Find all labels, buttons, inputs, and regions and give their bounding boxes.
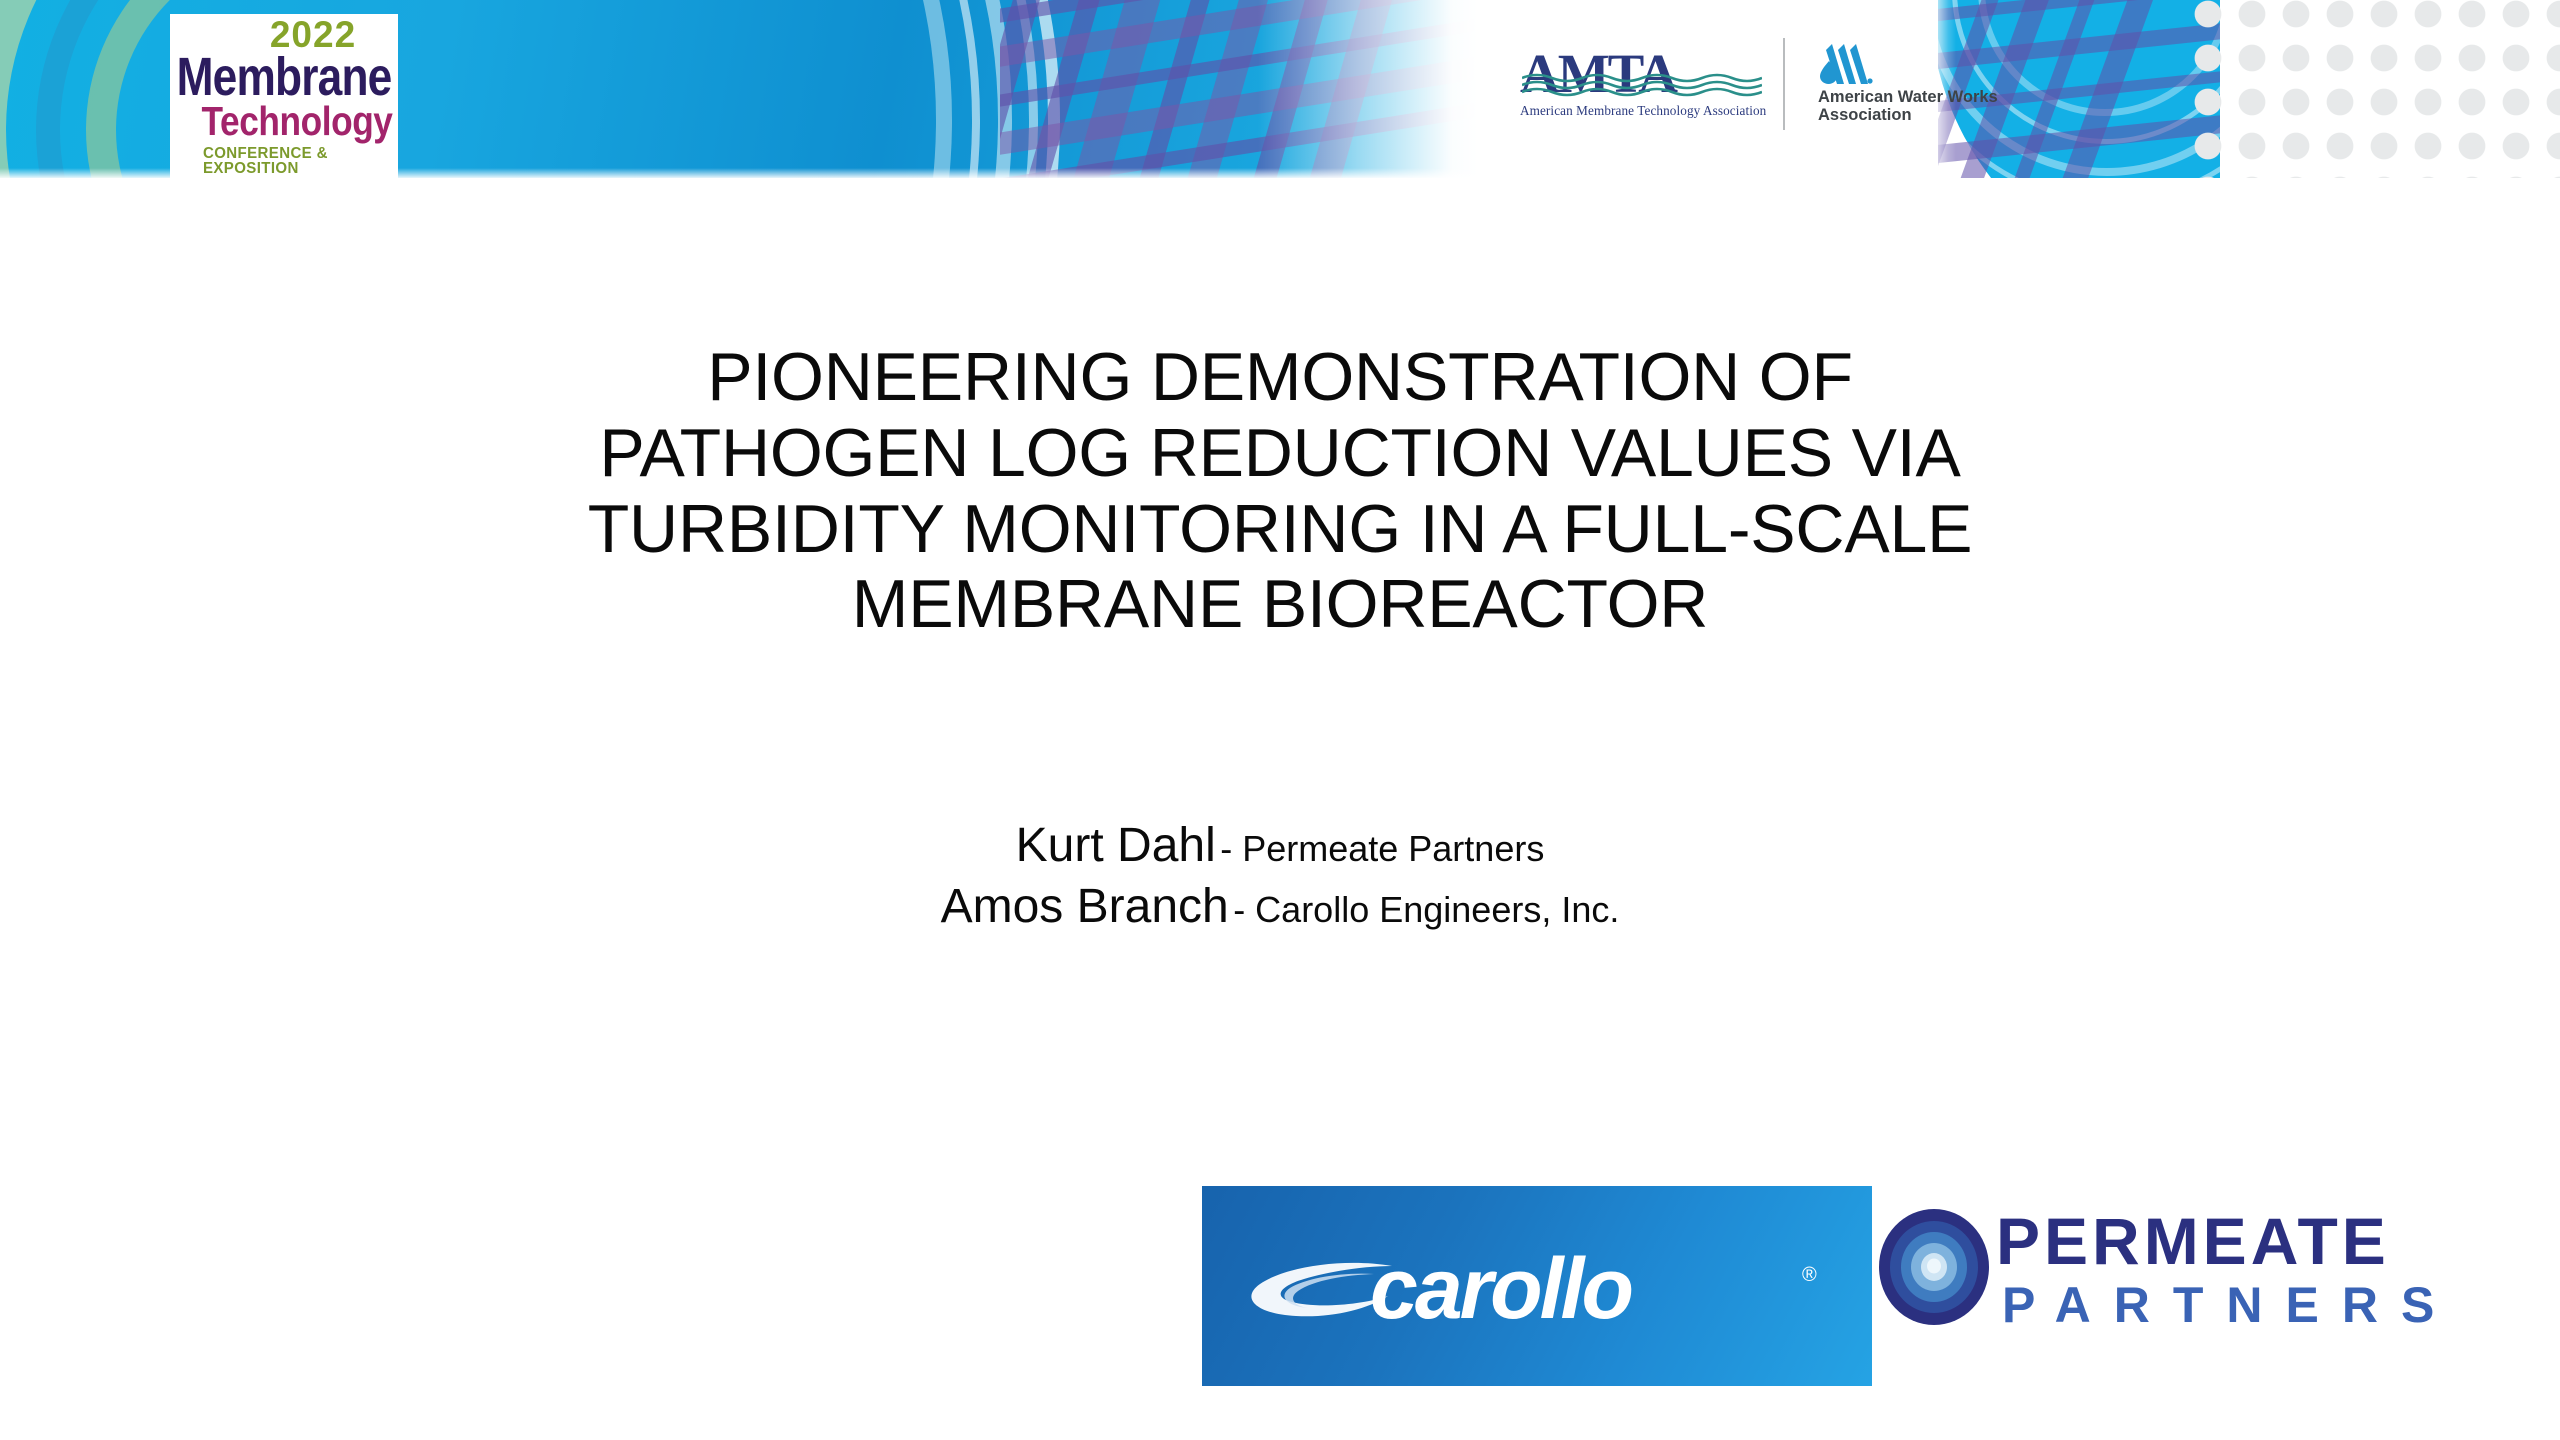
presentation-slide: 2022 Membrane Technology CONFERENCE & EX… <box>0 0 2560 1440</box>
author-affiliation: - Carollo Engineers, Inc. <box>1233 889 1619 930</box>
author-affiliation: - Permeate Partners <box>1220 828 1544 869</box>
awwa-name-line2: Association <box>1818 106 2028 124</box>
permeate-partners-logo: PERMEATE PARTNERS <box>1878 1196 2560 1376</box>
awwa-name-line1: American Water Works <box>1818 88 2028 106</box>
conference-logo-membrane: Membrane <box>177 50 392 104</box>
logo-panel-divider <box>1783 38 1785 130</box>
awwa-logo: American Water Works Association <box>1818 44 2028 125</box>
author-row: Kurt Dahl - Permeate Partners <box>270 815 2290 876</box>
permeate-concentric-circle-icon <box>1878 1208 1990 1326</box>
carollo-logo: carollo ® <box>1202 1186 1872 1386</box>
slide-title: PIONEERING DEMONSTRATION OF PATHOGEN LOG… <box>270 340 2290 643</box>
author-list: Kurt Dahl - Permeate Partners Amos Branc… <box>270 815 2290 938</box>
author-name: Kurt Dahl <box>1016 819 1216 872</box>
author-row: Amos Branch - Carollo Engineers, Inc. <box>270 876 2290 937</box>
permeate-wordmark-primary: PERMEATE <box>1996 1208 2390 1274</box>
conference-logo-tagline: CONFERENCE & EXPOSITION <box>203 146 395 177</box>
title-line-4: MEMBRANE BIOREACTOR <box>270 567 2290 643</box>
banner-right-fade <box>1258 0 1478 178</box>
amta-acronym: AMTA <box>1520 46 1770 104</box>
amta-logo: AMTA American Membrane Technology Associ… <box>1520 46 1770 126</box>
permeate-wordmark-secondary: PARTNERS <box>2002 1280 2457 1330</box>
amta-subtitle: American Membrane Technology Association <box>1520 103 1770 119</box>
carollo-registered-mark: ® <box>1802 1264 1817 1287</box>
awwa-waterdrop-icon <box>1818 44 1872 82</box>
slide-header-banner: 2022 Membrane Technology CONFERENCE & EX… <box>0 0 2560 180</box>
membrane-technology-conference-logo: 2022 Membrane Technology CONFERENCE & EX… <box>148 14 398 178</box>
banner-dot-grid-pattern <box>2180 0 2560 178</box>
conference-logo-technology: Technology <box>202 101 393 142</box>
association-logo-panel: AMTA American Membrane Technology Associ… <box>1478 0 1938 178</box>
author-name: Amos Branch <box>941 880 1229 933</box>
title-line-2: PATHOGEN LOG REDUCTION VALUES VIA <box>270 416 2290 492</box>
title-line-3: TURBIDITY MONITORING IN A FULL-SCALE <box>270 492 2290 568</box>
carollo-wordmark: carollo <box>1370 1246 1631 1332</box>
title-line-1: PIONEERING DEMONSTRATION OF <box>270 340 2290 416</box>
